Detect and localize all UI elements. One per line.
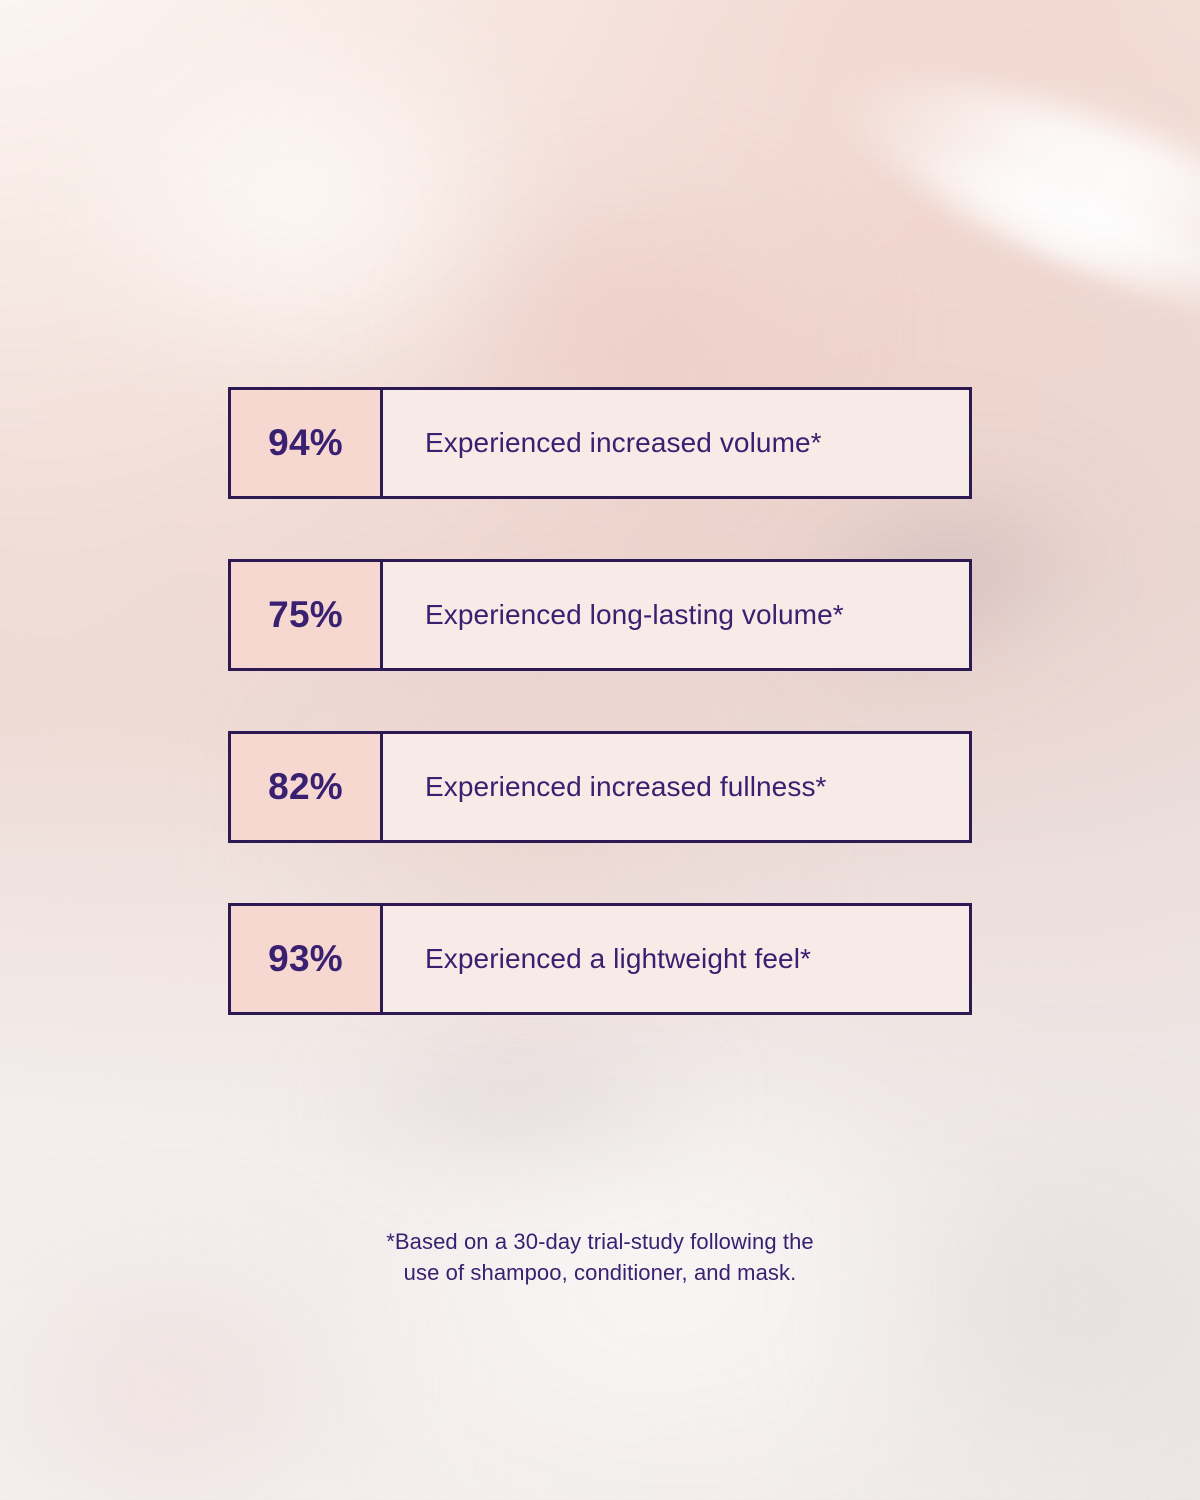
footnote: *Based on a 30-day trial-study following… — [0, 1226, 1200, 1288]
stat-claim-label: Experienced increased volume* — [383, 390, 969, 496]
stat-claim-label: Experienced long-lasting volume* — [383, 562, 969, 668]
footnote-line-1: *Based on a 30-day trial-study following… — [0, 1226, 1200, 1257]
stat-percent-value: 93% — [231, 906, 383, 1012]
stat-claim-label: Experienced increased fullness* — [383, 734, 969, 840]
stat-percent-value: 94% — [231, 390, 383, 496]
stat-percent-value: 75% — [231, 562, 383, 668]
footnote-line-2: use of shampoo, conditioner, and mask. — [0, 1257, 1200, 1288]
stat-row: 82% Experienced increased fullness* — [228, 731, 972, 843]
stat-callout-graphic: 94% Experienced increased volume* 75% Ex… — [0, 0, 1200, 1500]
stat-row: 75% Experienced long-lasting volume* — [228, 559, 972, 671]
stats-list: 94% Experienced increased volume* 75% Ex… — [228, 387, 972, 1015]
stat-claim-label: Experienced a lightweight feel* — [383, 906, 969, 1012]
stat-percent-value: 82% — [231, 734, 383, 840]
stat-row: 93% Experienced a lightweight feel* — [228, 903, 972, 1015]
stat-row: 94% Experienced increased volume* — [228, 387, 972, 499]
